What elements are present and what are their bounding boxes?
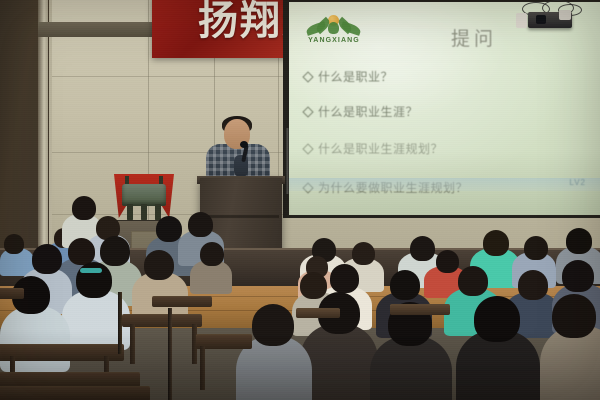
audience-head [300, 272, 327, 299]
slide-bullet-2: 什么是职业生涯？ [301, 97, 591, 126]
mic-stand-pole [286, 128, 289, 194]
aisle-rail [168, 308, 172, 400]
logo-wordmark: YANGXIANG [298, 37, 370, 44]
audience-head [483, 230, 509, 256]
slide-bullet-3: 什么是职业生涯规划？ [301, 134, 591, 163]
hair-clip-icon [80, 268, 102, 273]
banner-text: 扬翔奖 [198, 0, 290, 44]
ceiling-projector-rig [512, 0, 590, 34]
seat-row [152, 296, 212, 307]
diamond-bullet-icon [302, 106, 313, 117]
seat-row [0, 372, 140, 387]
audience-head [188, 212, 213, 237]
audience-area [0, 196, 600, 400]
audience-head [436, 250, 459, 273]
audience-head [68, 238, 95, 265]
seat-row [296, 308, 340, 318]
slide-bullet-2-text: 什么是职业生涯？ [318, 103, 418, 120]
audience-head [32, 244, 62, 274]
audience-head [352, 242, 375, 265]
slide-footer-bar [289, 178, 600, 191]
audience-head [474, 296, 520, 342]
slide-bullet-1-text: 什么是职业？ [318, 68, 393, 85]
audience-head [252, 304, 294, 346]
event-banner: 扬翔奖 [152, 0, 290, 58]
audience-head [200, 242, 224, 266]
microphone-head [240, 141, 248, 148]
audience-head [562, 260, 594, 292]
audience-head [552, 294, 596, 338]
audience-head [4, 234, 24, 254]
diamond-bullet-icon [302, 71, 313, 82]
diamond-bullet-icon [302, 143, 313, 154]
audience-head [458, 266, 488, 296]
audience-head [566, 228, 592, 254]
yangxiang-logo-icon: YANGXIANG [298, 15, 370, 51]
rig-white-module [516, 13, 527, 28]
projector-lens-icon [536, 15, 546, 24]
audience-head [410, 236, 435, 261]
audience-head [144, 250, 174, 280]
seat-row [0, 386, 150, 400]
slide-footer-mark: LV2 [569, 178, 586, 191]
audience-head [330, 264, 359, 293]
audience-head [390, 270, 420, 300]
audience-head [100, 236, 130, 266]
audience-head [72, 196, 96, 220]
rig-white-module-2 [559, 10, 571, 20]
audience-head [156, 216, 182, 242]
seat-row [390, 304, 450, 315]
aisle-rail [118, 292, 122, 354]
audience-head [524, 236, 548, 260]
slide-bullet-1: 什么是职业？ [301, 62, 591, 91]
slide-bullet-3-text: 什么是职业生涯规划？ [318, 140, 443, 157]
lecture-hall-photo: 扬翔奖 YANGXIANG 提问 [0, 0, 600, 400]
seat-row [0, 288, 24, 299]
audience-head [518, 270, 548, 300]
